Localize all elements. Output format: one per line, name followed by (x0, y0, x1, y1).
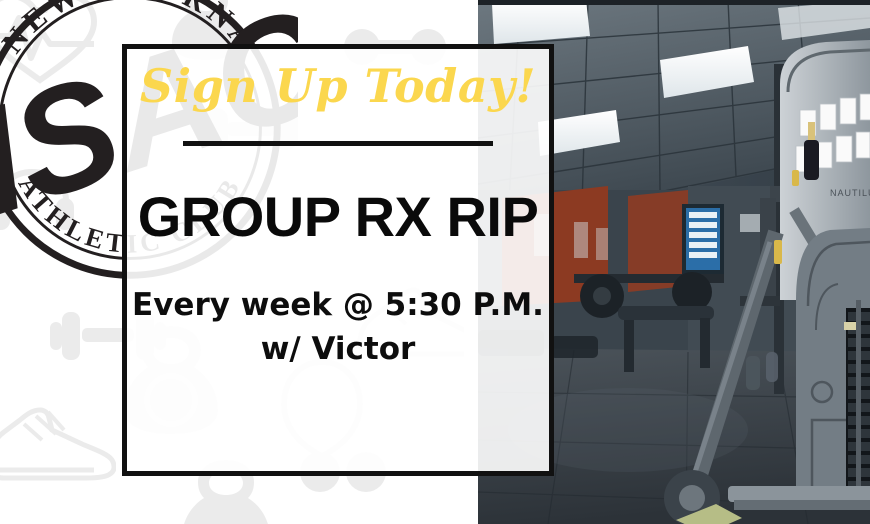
divider-rule (183, 141, 493, 146)
svg-text:NAUTILUS: NAUTILUS (830, 188, 870, 198)
flyer-card: Sign Up Today! GROUP RX RIP Every week @… (122, 44, 554, 476)
schedule-block: Every week @ 5:30 P.M. w/ Victor (127, 283, 549, 371)
schedule-line-time: Every week @ 5:30 P.M. (132, 287, 544, 323)
schedule-line-instructor: w/ Victor (129, 327, 547, 371)
running-shoe-icon (0, 396, 116, 482)
class-title: GROUP RX RIP (138, 189, 539, 245)
signup-headline: Sign Up Today! (140, 62, 536, 110)
flyer-canvas: NEW SMYRNA ATHLETIC CLUB NSAC (0, 0, 870, 524)
photo-top-edge (478, 0, 870, 5)
